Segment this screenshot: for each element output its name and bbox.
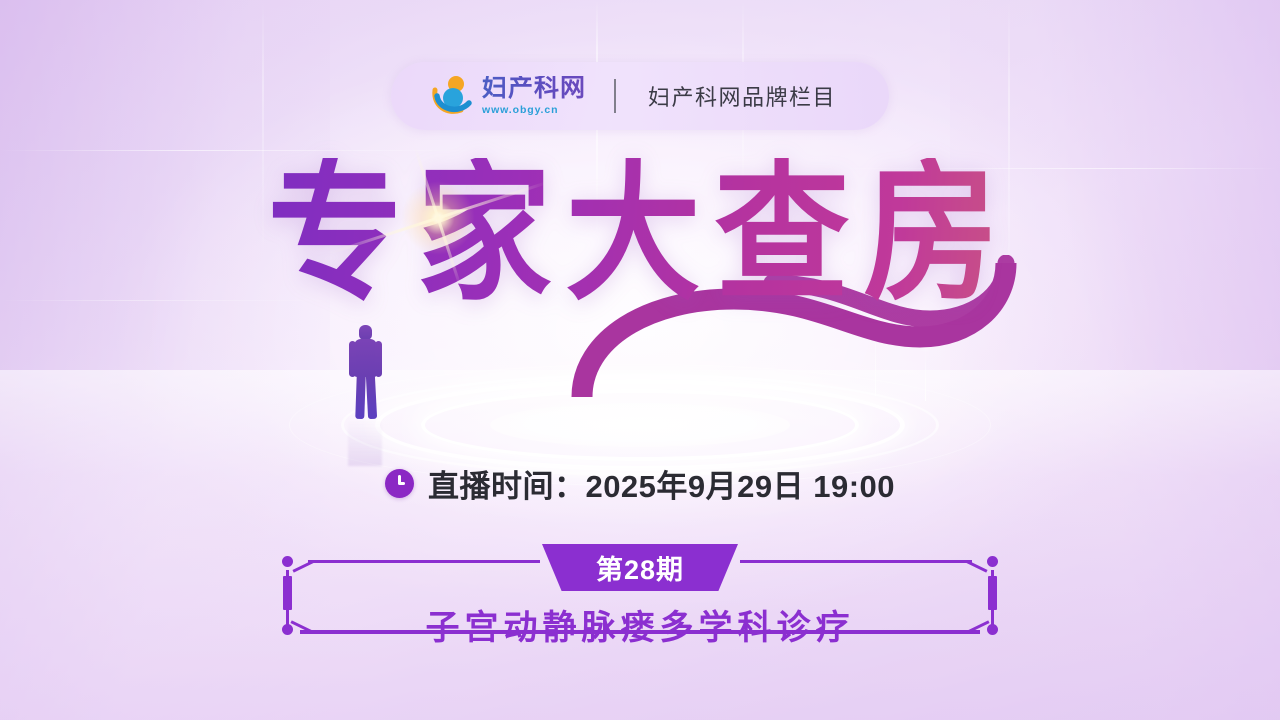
logo-text-cn: 妇产科网 — [482, 76, 586, 101]
silhouette-reflection — [348, 420, 382, 466]
frame-line-top-left — [308, 560, 540, 563]
frame-dot-top-left — [282, 556, 293, 567]
episode-badge: 第28期 — [542, 544, 738, 591]
frame-dot-top-right — [987, 556, 998, 567]
live-time-text: 直播时间：2025年9月29日 19:00 — [428, 461, 895, 506]
brand-header-pill: 妇产科网 www.obgy.cn 妇产科网品牌栏目 — [391, 62, 889, 130]
episode-subtitle: 子宫动静脉瘘多学科诊疗 — [278, 600, 1002, 649]
frame-diagonal-top-left — [292, 560, 313, 572]
clock-icon — [385, 469, 414, 498]
vertical-divider — [614, 79, 616, 113]
frame-line-top-right — [740, 560, 972, 563]
frame-diagonal-top-right — [966, 560, 987, 572]
brand-tagline: 妇产科网品牌栏目 — [648, 80, 836, 112]
doctor-silhouette-icon — [348, 325, 382, 420]
page-title: 专家大查房 — [0, 158, 1280, 309]
poster-canvas: 妇产科网 www.obgy.cn 妇产科网品牌栏目 专家大查房 直播时间：202… — [0, 0, 1280, 720]
logo-text-url: www.obgy.cn — [482, 104, 586, 116]
brand-logo[interactable]: 妇产科网 www.obgy.cn — [431, 76, 586, 116]
obgy-logo-icon — [431, 76, 475, 116]
episode-frame: 第28期 子宫动静脉瘘多学科诊疗 — [278, 548, 1002, 644]
live-time-row: 直播时间：2025年9月29日 19:00 — [0, 461, 1280, 506]
episode-badge-label: 第28期 — [596, 548, 684, 587]
